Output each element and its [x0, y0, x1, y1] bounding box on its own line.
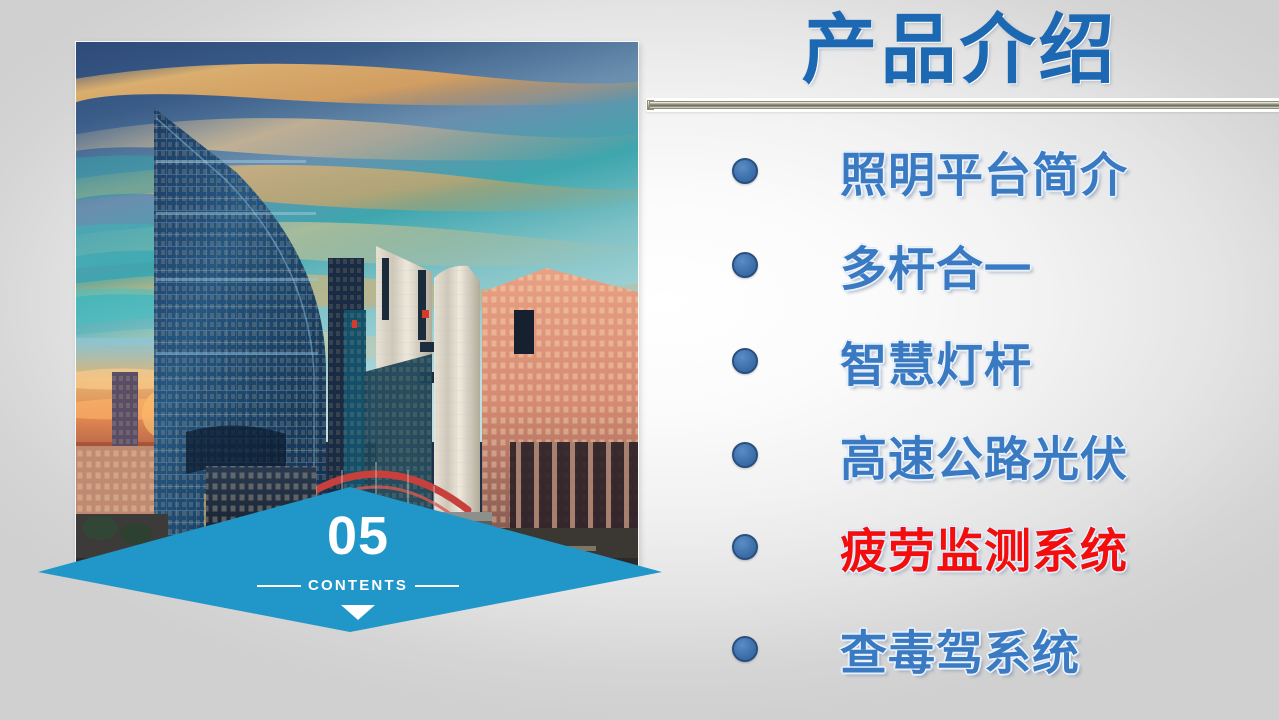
photo-canvas	[76, 42, 638, 572]
bullet-dot-icon	[732, 158, 758, 184]
right-panel: 产品介绍 照明平台简介 多杆合一 智慧灯杆 高速公路光伏	[640, 0, 1279, 720]
rule-right	[415, 585, 459, 587]
list-item[interactable]: 照明平台简介	[640, 128, 1279, 214]
contents-label-group: CONTENTS	[257, 577, 459, 594]
list-item[interactable]: 查毒驾系统	[640, 606, 1279, 692]
list-item[interactable]: 智慧灯杆	[640, 318, 1279, 404]
bullet-dot-icon	[732, 442, 758, 468]
bullet-dot-icon	[732, 252, 758, 278]
list-item-label: 多杆合一	[840, 231, 1032, 300]
list-item[interactable]: 多杆合一	[640, 222, 1279, 308]
list-item-label: 查毒驾系统	[840, 615, 1080, 684]
bullet-dot-icon	[732, 636, 758, 662]
list-item[interactable]: 高速公路光伏	[640, 412, 1279, 498]
page-title: 产品介绍	[640, 8, 1279, 92]
contents-label: CONTENTS	[308, 577, 408, 594]
cityscape-photo	[76, 42, 638, 572]
list-item[interactable]: 疲劳监测系统	[640, 504, 1279, 590]
list-item-label: 智慧灯杆	[840, 327, 1032, 396]
down-triangle-icon	[341, 605, 375, 620]
list-item-label: 疲劳监测系统	[840, 513, 1128, 582]
cityscape-illustration	[76, 42, 638, 572]
bullet-dot-icon	[732, 534, 758, 560]
rule-left	[257, 585, 301, 587]
list-item-label: 高速公路光伏	[840, 421, 1128, 490]
title-divider	[646, 98, 1279, 112]
divider-bar	[649, 101, 1279, 109]
list-item-label: 照明平台简介	[840, 137, 1128, 206]
presentation-slide: 05 CONTENTS 产品介绍 照明平台简介 多杆合一	[0, 0, 1279, 720]
contents-list: 照明平台简介 多杆合一 智慧灯杆 高速公路光伏 疲劳监测系统 查毒驾系统	[640, 128, 1279, 708]
bullet-dot-icon	[732, 348, 758, 374]
